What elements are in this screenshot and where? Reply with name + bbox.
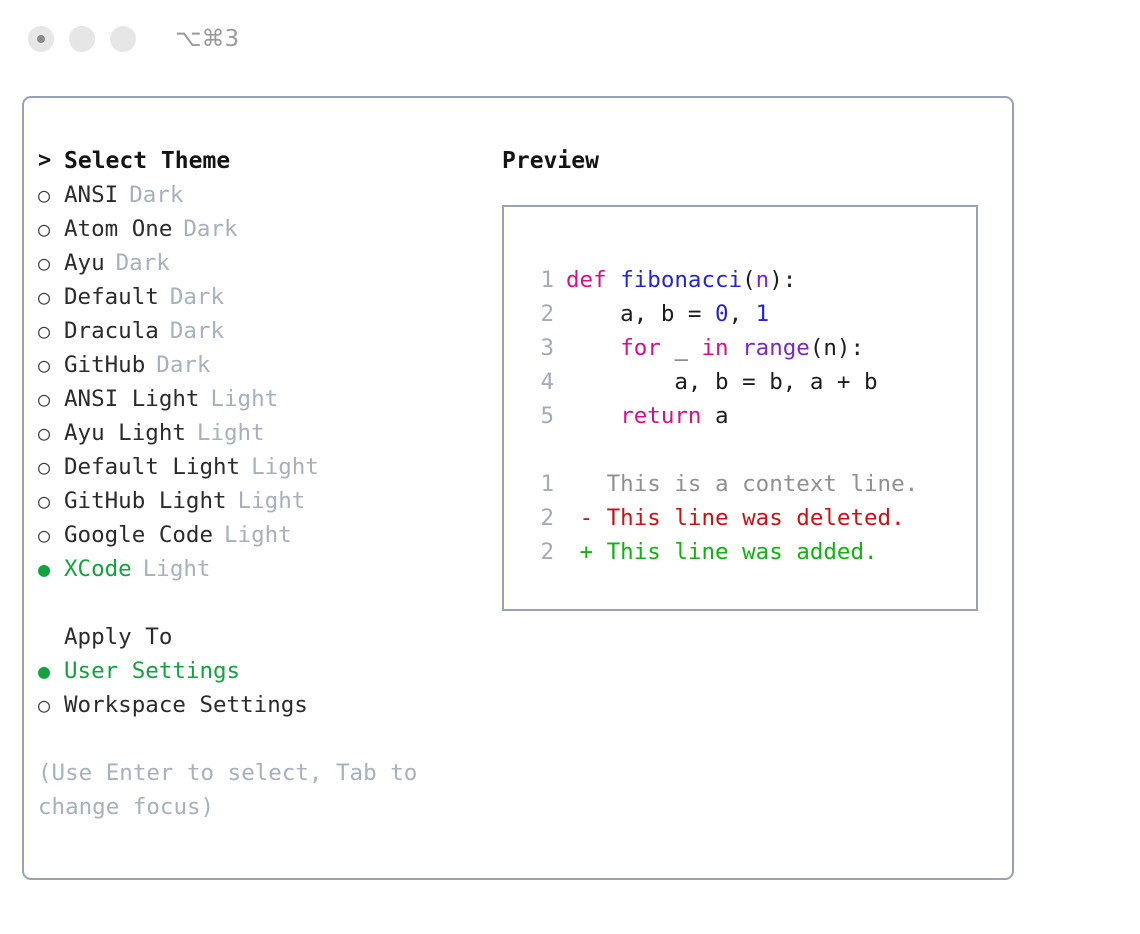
- radio-unselected-icon: ○: [38, 212, 64, 246]
- theme-variant-badge: Light: [224, 518, 292, 552]
- app-window: ⌥⌘3 > Select Theme ○ANSIDark○Atom OneDar…: [0, 0, 1140, 934]
- radio-unselected-icon: ○: [38, 314, 64, 348]
- apply-to-heading: ○ Apply To: [38, 620, 488, 654]
- code-line: 1def fibonacci(n):: [522, 263, 976, 297]
- code-line: 3 for _ in range(n):: [522, 331, 976, 365]
- code-token: n: [756, 267, 770, 293]
- apply-to-item[interactable]: ○Workspace Settings: [38, 688, 488, 722]
- code-line: 5 return a: [522, 399, 976, 433]
- preview-box: 1def fibonacci(n):2 a, b = 0, 13 for _ i…: [502, 205, 978, 611]
- theme-name-label: Default Light: [64, 450, 240, 484]
- code-text: - This line was deleted.: [566, 501, 905, 535]
- keyboard-hint-text: (Use Enter to select, Tab to change focu…: [38, 756, 446, 824]
- theme-list-item[interactable]: ○GitHubDark: [38, 348, 488, 382]
- theme-variant-badge: Dark: [156, 348, 210, 382]
- radio-unselected-icon: ○: [38, 382, 64, 416]
- radio-selected-icon: ●: [38, 552, 64, 586]
- code-token: + This line was added.: [566, 539, 878, 565]
- diff-line: 1 This is a context line.: [522, 467, 976, 501]
- code-line: 4 a, b = b, a + b: [522, 365, 976, 399]
- code-token: 0: [715, 301, 729, 327]
- code-token: (: [742, 267, 756, 293]
- code-token: - This line was deleted.: [566, 505, 905, 531]
- theme-name-label: Dracula: [64, 314, 159, 348]
- code-token: fibonacci: [620, 267, 742, 293]
- code-text: This is a context line.: [566, 467, 918, 501]
- apply-to-marker-placeholder: ○: [38, 625, 64, 649]
- line-number: 1: [522, 263, 554, 297]
- line-number: 2: [522, 535, 554, 569]
- theme-name-label: Default: [64, 280, 159, 314]
- code-token: _: [661, 335, 702, 361]
- radio-unselected-icon: ○: [38, 484, 64, 518]
- radio-unselected-icon: ○: [38, 178, 64, 212]
- code-text: a, b = b, a + b: [566, 365, 878, 399]
- theme-selector-column: > Select Theme ○ANSIDark○Atom OneDark○Ay…: [38, 144, 488, 824]
- title-bar: ⌥⌘3: [0, 0, 1140, 78]
- apply-to-item[interactable]: ●User Settings: [38, 654, 488, 688]
- theme-name-label: GitHub: [64, 348, 145, 382]
- theme-variant-badge: Light: [143, 552, 211, 586]
- line-number: 2: [522, 501, 554, 535]
- keyboard-shortcut-label: ⌥⌘3: [175, 26, 239, 52]
- diff-line: 2 + This line was added.: [522, 535, 976, 569]
- theme-variant-badge: Light: [251, 450, 319, 484]
- theme-list-item[interactable]: ○Google CodeLight: [38, 518, 488, 552]
- radio-unselected-icon: ○: [38, 416, 64, 450]
- code-token: for: [620, 335, 661, 361]
- apply-to-label: User Settings: [64, 654, 240, 688]
- select-theme-heading-label: Select Theme: [64, 144, 230, 178]
- code-sample: 1def fibonacci(n):2 a, b = 0, 13 for _ i…: [522, 263, 976, 433]
- window-dot-2[interactable]: [69, 26, 95, 52]
- code-text: + This line was added.: [566, 535, 878, 569]
- theme-name-label: Ayu Light: [64, 416, 186, 450]
- theme-list-item[interactable]: ○DefaultDark: [38, 280, 488, 314]
- line-number: 3: [522, 331, 554, 365]
- theme-list: ○ANSIDark○Atom OneDark○AyuDark○DefaultDa…: [38, 178, 488, 586]
- code-token: in: [701, 335, 728, 361]
- main-panel: > Select Theme ○ANSIDark○Atom OneDark○Ay…: [22, 96, 1014, 880]
- radio-selected-icon: ●: [38, 654, 64, 688]
- diff-line: 2 - This line was deleted.: [522, 501, 976, 535]
- theme-name-label: Ayu: [64, 246, 105, 280]
- theme-variant-badge: Light: [197, 416, 265, 450]
- theme-list-item[interactable]: ○Default LightLight: [38, 450, 488, 484]
- window-dot-1[interactable]: [28, 26, 54, 52]
- window-dot-3[interactable]: [110, 26, 136, 52]
- code-token: return: [620, 403, 701, 429]
- apply-to-label: Workspace Settings: [64, 688, 308, 722]
- radio-unselected-icon: ○: [38, 246, 64, 280]
- code-diff-spacer: [522, 433, 976, 467]
- line-number: 2: [522, 297, 554, 331]
- diff-sample: 1 This is a context line.2 - This line w…: [522, 467, 976, 569]
- theme-list-item[interactable]: ○Ayu LightLight: [38, 416, 488, 450]
- code-token: 1: [756, 301, 770, 327]
- prompt-caret-icon: >: [38, 144, 64, 178]
- theme-list-item[interactable]: ○Atom OneDark: [38, 212, 488, 246]
- code-token: [566, 335, 620, 361]
- theme-variant-badge: Light: [210, 382, 278, 416]
- line-number: 4: [522, 365, 554, 399]
- radio-unselected-icon: ○: [38, 688, 64, 722]
- theme-variant-badge: Dark: [170, 280, 224, 314]
- code-token: a, b = b, a + b: [566, 369, 878, 395]
- radio-unselected-icon: ○: [38, 280, 64, 314]
- line-number: 5: [522, 399, 554, 433]
- code-line: 2 a, b = 0, 1: [522, 297, 976, 331]
- line-number: 1: [522, 467, 554, 501]
- code-text: for _ in range(n):: [566, 331, 864, 365]
- code-token: [729, 335, 743, 361]
- section-spacer: [38, 586, 488, 620]
- window-dot-1-fill: [37, 35, 45, 43]
- theme-list-item[interactable]: ○GitHub LightLight: [38, 484, 488, 518]
- theme-name-label: ANSI Light: [64, 382, 199, 416]
- code-text: a, b = 0, 1: [566, 297, 769, 331]
- preview-column: Preview 1def fibonacci(n):2 a, b = 0, 13…: [502, 144, 1002, 611]
- radio-unselected-icon: ○: [38, 518, 64, 552]
- code-token: def: [566, 267, 620, 293]
- code-token: This is a context line.: [566, 471, 918, 497]
- code-text: def fibonacci(n):: [566, 263, 796, 297]
- theme-list-item[interactable]: ○AyuDark: [38, 246, 488, 280]
- theme-list-item[interactable]: ●XCodeLight: [38, 552, 488, 586]
- theme-name-label: GitHub Light: [64, 484, 227, 518]
- code-token: ):: [769, 267, 796, 293]
- code-token: a, b =: [566, 301, 715, 327]
- code-text: return a: [566, 399, 729, 433]
- code-token: [566, 403, 620, 429]
- panel-columns: > Select Theme ○ANSIDark○Atom OneDark○Ay…: [24, 98, 1012, 878]
- radio-unselected-icon: ○: [38, 348, 64, 382]
- theme-name-label: Google Code: [64, 518, 213, 552]
- theme-name-label: Atom One: [64, 212, 172, 246]
- code-token: ,: [729, 301, 756, 327]
- preview-title: Preview: [502, 144, 1002, 178]
- theme-variant-badge: Dark: [170, 314, 224, 348]
- theme-list-item[interactable]: ○ANSI LightLight: [38, 382, 488, 416]
- theme-name-label: ANSI: [64, 178, 118, 212]
- theme-name-label: XCode: [64, 552, 132, 586]
- theme-list-item[interactable]: ○ANSIDark: [38, 178, 488, 212]
- code-token: range: [742, 335, 810, 361]
- apply-to-heading-label: Apply To: [64, 624, 172, 650]
- select-theme-heading: > Select Theme: [38, 144, 488, 178]
- radio-unselected-icon: ○: [38, 450, 64, 484]
- theme-variant-badge: Dark: [183, 212, 237, 246]
- theme-variant-badge: Light: [238, 484, 306, 518]
- code-token: (n):: [810, 335, 864, 361]
- apply-to-list: ●User Settings○Workspace Settings: [38, 654, 488, 722]
- theme-list-item[interactable]: ○DraculaDark: [38, 314, 488, 348]
- theme-variant-badge: Dark: [116, 246, 170, 280]
- theme-variant-badge: Dark: [129, 178, 183, 212]
- code-token: a: [701, 403, 728, 429]
